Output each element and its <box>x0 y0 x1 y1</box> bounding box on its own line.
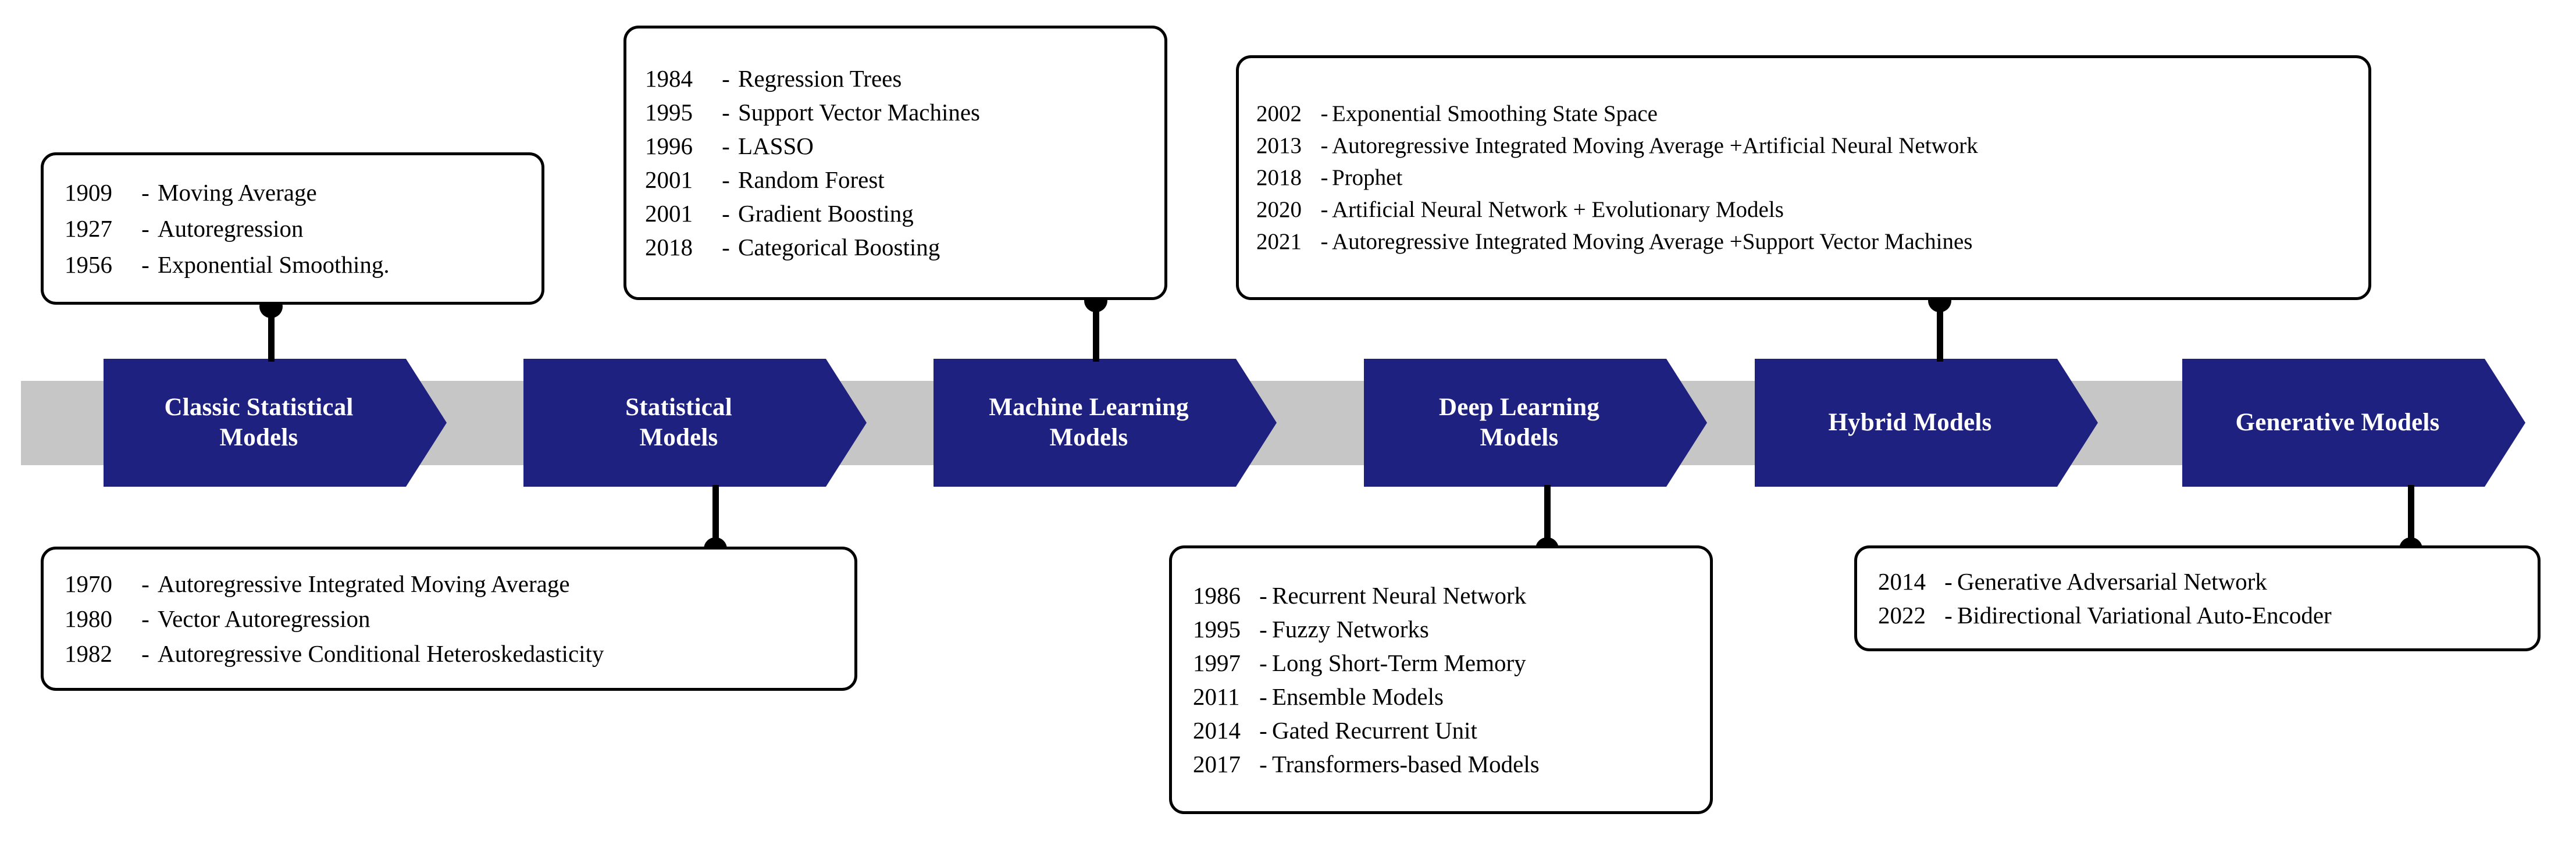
entry-text: Gated Recurrent Unit <box>1272 716 1477 744</box>
entry-dash: - <box>714 98 738 126</box>
stage-machine-learning-models[interactable]: Machine Learning Models <box>934 359 1277 487</box>
entry-text: Autoregressive Integrated Moving Average <box>158 570 570 598</box>
entry-dash: - <box>714 233 738 261</box>
callout-entry: 1909 - Moving Average <box>65 179 541 206</box>
entry-text: Moving Average <box>158 179 317 206</box>
callout-deep-learning: 1986 - Recurrent Neural Network 1995 - F… <box>1169 545 1713 814</box>
callout-entry: 1995 - Support Vector Machines <box>645 98 1164 126</box>
entry-text: Generative Adversarial Network <box>1957 568 2267 595</box>
entry-text: Autoregressive Integrated Moving Average… <box>1332 133 1978 159</box>
stage-hybrid-models[interactable]: Hybrid Models <box>1755 359 2098 487</box>
entry-year: 1909 <box>65 179 133 206</box>
callout-entry: 2002 - Exponential Smoothing State Space <box>1256 101 2368 127</box>
callout-entry: 1956 - Exponential Smoothing. <box>65 251 541 279</box>
entry-year: 2014 <box>1193 716 1255 744</box>
entry-year: 2001 <box>645 166 714 194</box>
entry-year: 1995 <box>645 98 714 126</box>
callout-entry: 1970 - Autoregressive Integrated Moving … <box>65 570 854 598</box>
callout-generative: 2014 - Generative Adversarial Network 20… <box>1854 545 2541 651</box>
stage-label: Machine Learning Models <box>989 393 1221 454</box>
entry-text: Ensemble Models <box>1272 683 1444 711</box>
entry-year: 1927 <box>65 215 133 242</box>
stage-classic-statistical-models[interactable]: Classic Statistical Models <box>104 359 447 487</box>
entry-dash: - <box>1317 229 1332 255</box>
callout-entry: 2001 - Random Forest <box>645 166 1164 194</box>
entry-dash: - <box>1255 750 1272 778</box>
entry-text: Recurrent Neural Network <box>1272 581 1526 609</box>
entry-text: Gradient Boosting <box>738 199 914 227</box>
entry-year: 1980 <box>65 605 133 633</box>
entry-dash: - <box>1317 101 1332 127</box>
entry-dash: - <box>133 251 158 279</box>
entry-dash: - <box>714 166 738 194</box>
callout-entry: 2013 - Autoregressive Integrated Moving … <box>1256 133 2368 159</box>
entry-dash: - <box>1317 197 1332 223</box>
entry-year: 2020 <box>1256 197 1317 223</box>
callout-entry: 2018 - Categorical Boosting <box>645 233 1164 261</box>
callout-statistical: 1970 - Autoregressive Integrated Moving … <box>41 547 857 691</box>
entry-text: Transformers-based Models <box>1272 750 1540 778</box>
entry-text: Regression Trees <box>738 65 902 92</box>
entry-text: Categorical Boosting <box>738 233 940 261</box>
stage-label: Generative Models <box>2236 408 2472 438</box>
entry-text: Fuzzy Networks <box>1272 615 1429 643</box>
entry-dash: - <box>714 65 738 92</box>
callout-entry: 2017 - Transformers-based Models <box>1193 750 1710 778</box>
entry-year: 2014 <box>1878 568 1940 595</box>
entry-year: 1982 <box>65 640 133 668</box>
entry-year: 1996 <box>645 132 714 160</box>
entry-text: Random Forest <box>738 166 885 194</box>
entry-text: Exponential Smoothing State Space <box>1332 101 1658 127</box>
entry-text: Exponential Smoothing. <box>158 251 390 279</box>
callout-entry: 2021 - Autoregressive Integrated Moving … <box>1256 229 2368 255</box>
entry-year: 1984 <box>645 65 714 92</box>
entry-year: 2022 <box>1878 601 1940 629</box>
entry-text: Artificial Neural Network + Evolutionary… <box>1332 197 1784 223</box>
entry-year: 1997 <box>1193 649 1255 677</box>
entry-dash: - <box>1255 581 1272 609</box>
entry-year: 2013 <box>1256 133 1317 159</box>
entry-year: 2018 <box>1256 165 1317 191</box>
entry-text: Autoregressive Conditional Heteroskedast… <box>158 640 604 668</box>
entry-text: Support Vector Machines <box>738 98 980 126</box>
entry-dash: - <box>133 215 158 242</box>
callout-entry: 1984 - Regression Trees <box>645 65 1164 92</box>
callout-entry: 1982 - Autoregressive Conditional Hetero… <box>65 640 854 668</box>
stage-label: Classic Statistical Models <box>164 393 386 454</box>
entry-year: 2017 <box>1193 750 1255 778</box>
callout-entry: 2001 - Gradient Boosting <box>645 199 1164 227</box>
entry-year: 2021 <box>1256 229 1317 255</box>
entry-year: 1986 <box>1193 581 1255 609</box>
callout-entry: 2014 - Gated Recurrent Unit <box>1193 716 1710 744</box>
entry-text: LASSO <box>738 132 814 160</box>
entry-text: Vector Autoregression <box>158 605 370 633</box>
entry-year: 2001 <box>645 199 714 227</box>
callout-entry: 1996 - LASSO <box>645 132 1164 160</box>
entry-dash: - <box>1317 165 1332 191</box>
entry-text: Prophet <box>1332 165 1402 191</box>
callout-classic-statistical: 1909 - Moving Average 1927 - Autoregress… <box>41 152 544 305</box>
entry-dash: - <box>1255 649 1272 677</box>
callout-entry: 1986 - Recurrent Neural Network <box>1193 581 1710 609</box>
entry-dash: - <box>714 132 738 160</box>
entry-year: 2011 <box>1193 683 1255 711</box>
callout-entry: 2018 - Prophet <box>1256 165 2368 191</box>
entry-dash: - <box>133 179 158 206</box>
callout-entry: 2022 - Bidirectional Variational Auto-En… <box>1878 601 2538 629</box>
entry-dash: - <box>1255 615 1272 643</box>
entry-dash: - <box>1940 568 1957 595</box>
entry-dash: - <box>133 640 158 668</box>
callout-entry: 2014 - Generative Adversarial Network <box>1878 568 2538 595</box>
callout-entry: 2011 - Ensemble Models <box>1193 683 1710 711</box>
entry-year: 1995 <box>1193 615 1255 643</box>
timeline-diagram: Classic Statistical Models Statistical M… <box>0 0 2576 842</box>
entry-text: Autoregressive Integrated Moving Average… <box>1332 229 1972 255</box>
stage-statistical-models[interactable]: Statistical Models <box>523 359 867 487</box>
stage-deep-learning-models[interactable]: Deep Learning Models <box>1364 359 1707 487</box>
callout-entry: 1995 - Fuzzy Networks <box>1193 615 1710 643</box>
callout-entry: 1980 - Vector Autoregression <box>65 605 854 633</box>
stage-generative-models[interactable]: Generative Models <box>2182 359 2525 487</box>
entry-year: 1970 <box>65 570 133 598</box>
entry-dash: - <box>1317 133 1332 159</box>
callout-machine-learning: 1984 - Regression Trees 1995 - Support V… <box>623 26 1167 300</box>
entry-dash: - <box>714 199 738 227</box>
stage-label: Deep Learning Models <box>1439 393 1632 454</box>
entry-dash: - <box>1255 716 1272 744</box>
entry-text: Bidirectional Variational Auto-Encoder <box>1957 601 2332 629</box>
entry-text: Autoregression <box>158 215 304 242</box>
callout-entry: 1927 - Autoregression <box>65 215 541 242</box>
stage-label: Statistical Models <box>625 393 765 454</box>
callout-entry: 1997 - Long Short-Term Memory <box>1193 649 1710 677</box>
entry-dash: - <box>133 605 158 633</box>
entry-dash: - <box>133 570 158 598</box>
entry-dash: - <box>1255 683 1272 711</box>
entry-year: 2002 <box>1256 101 1317 127</box>
entry-year: 1956 <box>65 251 133 279</box>
entry-year: 2018 <box>645 233 714 261</box>
callout-hybrid: 2002 - Exponential Smoothing State Space… <box>1236 55 2371 300</box>
entry-dash: - <box>1940 601 1957 629</box>
callout-entry: 2020 - Artificial Neural Network + Evolu… <box>1256 197 2368 223</box>
entry-text: Long Short-Term Memory <box>1272 649 1526 677</box>
stage-label: Hybrid Models <box>1829 408 2025 438</box>
